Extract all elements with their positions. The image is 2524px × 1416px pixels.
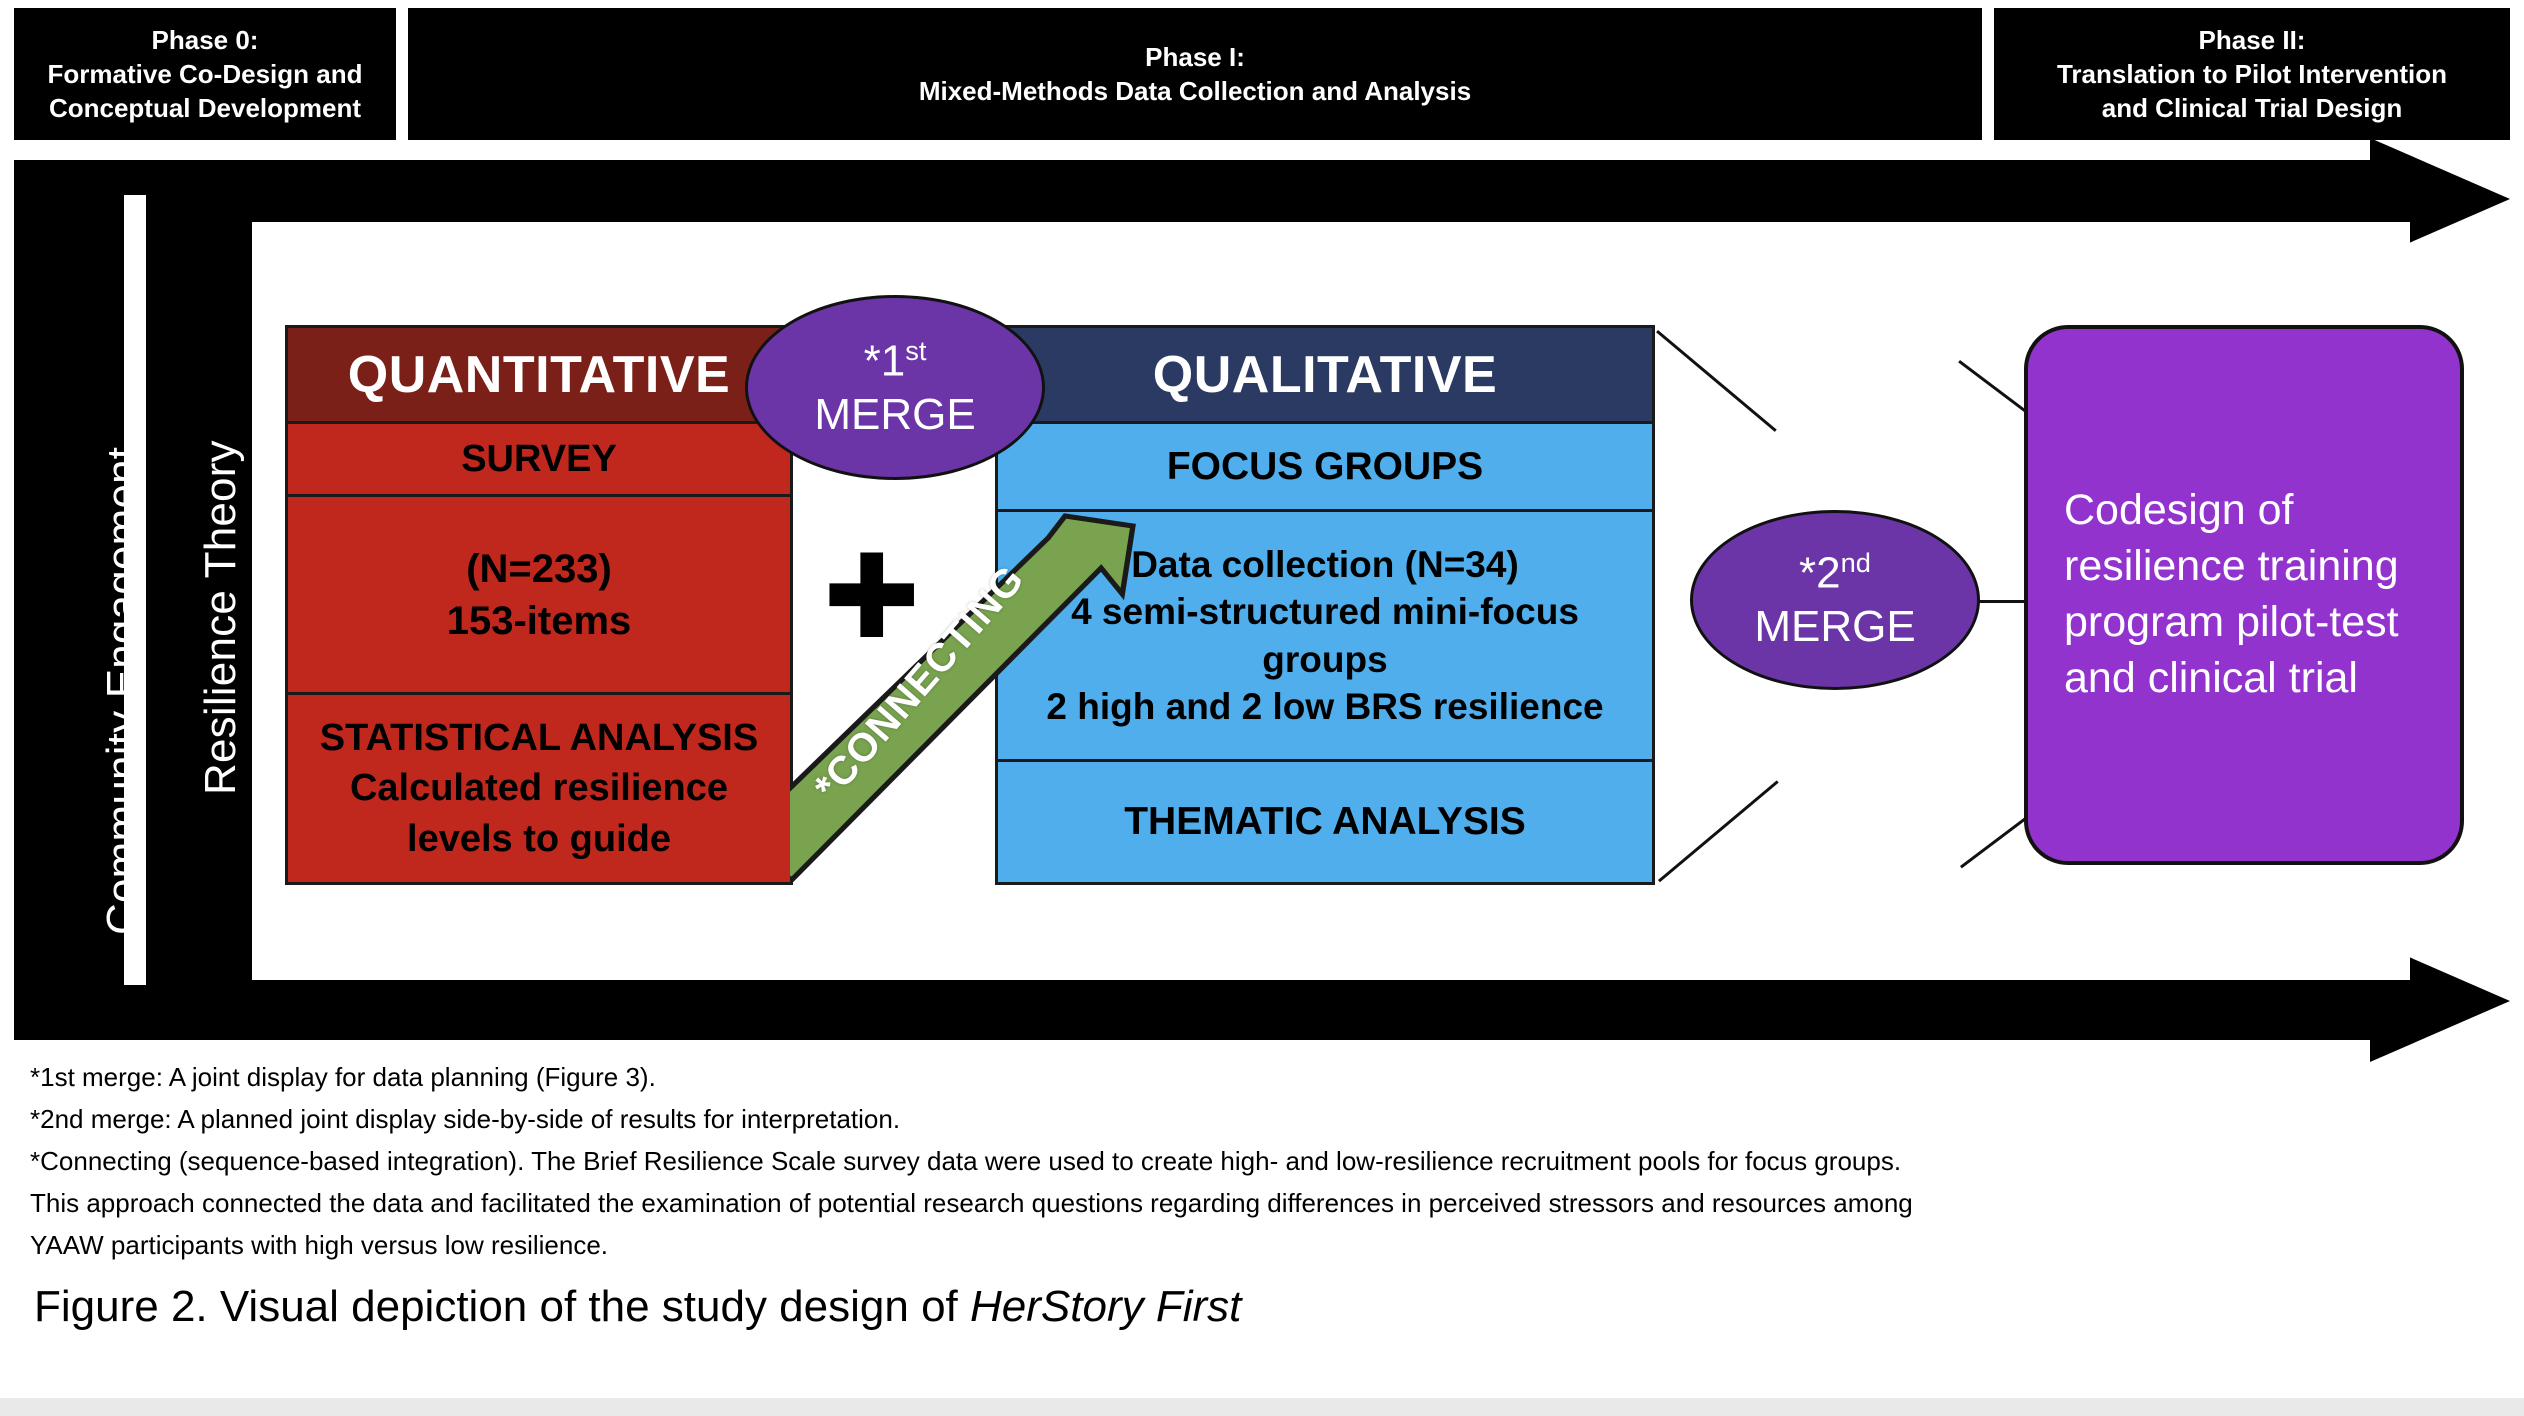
quantitative-analysis-line-2: Calculated resilience — [350, 763, 728, 813]
qualitative-data-line-3: groups — [1262, 636, 1387, 683]
merge-second-ordinal-line: *2nd — [1799, 548, 1871, 598]
quantitative-item-count: 153-items — [447, 595, 632, 647]
page-bottom-edge — [0, 1398, 2524, 1416]
quantitative-sample-size: (N=233) — [466, 543, 612, 595]
qualitative-thematic-analysis-label: THEMATIC ANALYSIS — [1124, 800, 1526, 844]
quantitative-row-survey: SURVEY — [288, 424, 790, 497]
footnote-line-4: This approach connected the data and fac… — [30, 1182, 2330, 1224]
merge-second-ordinal-suffix: nd — [1841, 547, 1871, 578]
phase-1-subtitle-line-1: Mixed-Methods Data Collection and Analys… — [919, 74, 1471, 108]
merge-second-prefix: *2 — [1799, 549, 1841, 598]
qualitative-row-focus-groups: FOCUS GROUPS — [998, 424, 1652, 512]
codesign-text: Codesign of resilience training program … — [2064, 483, 2424, 707]
qualitative-row-thematic-analysis: THEMATIC ANALYSIS — [998, 762, 1652, 882]
figure-caption-italic: HerStory First — [970, 1282, 1241, 1331]
footnote-line-5: YAAW participants with high versus low r… — [30, 1224, 2330, 1266]
qualitative-focus-groups-label: FOCUS GROUPS — [1167, 445, 1483, 489]
qualitative-data-line-4: 2 high and 2 low BRS resilience — [1046, 683, 1603, 730]
phase-box-2: Phase II: Translation to Pilot Intervent… — [1994, 8, 2510, 140]
merge-first-ordinal-suffix: st — [905, 335, 926, 366]
phase-0-subtitle-line-1: Formative Co-Design and — [48, 57, 363, 91]
phase-2-title: Phase II: — [2199, 23, 2306, 57]
quantitative-row-analysis: STATISTICAL ANALYSIS Calculated resilien… — [288, 695, 790, 882]
phase-1-title: Phase I: — [1145, 40, 1245, 74]
phase-box-0: Phase 0: Formative Co-Design and Concept… — [14, 8, 396, 140]
quantitative-row-sample: (N=233) 153-items — [288, 497, 790, 695]
figure-caption-plain: Figure 2. Visual depiction of the study … — [34, 1282, 970, 1331]
codesign-box: Codesign of resilience training program … — [2024, 325, 2464, 865]
phase-header-bar: Phase 0: Formative Co-Design and Concept… — [0, 8, 2524, 140]
quantitative-analysis-line-3: levels to guide — [407, 814, 671, 864]
phase-box-1: Phase I: Mixed-Methods Data Collection a… — [408, 8, 1982, 140]
merge-first-prefix: *1 — [864, 337, 906, 386]
figure-caption: Figure 2. Visual depiction of the study … — [34, 1282, 1241, 1332]
merge-first-label: MERGE — [814, 390, 975, 439]
qualitative-row-data-collection: Data collection (N=34) 4 semi-structured… — [998, 512, 1652, 762]
footnote-line-2: *2nd merge: A planned joint display side… — [30, 1098, 2330, 1140]
qualitative-box: QUALITATIVE FOCUS GROUPS Data collection… — [995, 325, 1655, 885]
footnote-line-3: *Connecting (sequence-based integration)… — [30, 1140, 2330, 1182]
side-label-resilience-theory: Resilience Theory — [196, 440, 246, 795]
qualitative-data-line-1: Data collection (N=34) — [1131, 541, 1519, 588]
merge-first-ordinal-line: *1st — [864, 336, 927, 386]
side-label-community-engagement: Community Engagement — [98, 447, 148, 935]
plus-icon: ✚ — [823, 540, 920, 656]
figure-canvas: Phase 0: Formative Co-Design and Concept… — [0, 0, 2524, 1416]
quantitative-survey-label: SURVEY — [461, 438, 617, 481]
qualitative-header: QUALITATIVE — [998, 328, 1652, 424]
qualitative-data-line-2: 4 semi-structured mini-focus — [1071, 588, 1579, 635]
merge-ellipse-first: *1st MERGE — [745, 295, 1045, 480]
footnotes-block: *1st merge: A joint display for data pla… — [30, 1056, 2330, 1267]
footnote-line-1: *1st merge: A joint display for data pla… — [30, 1056, 2330, 1098]
phase-2-subtitle-line-2: and Clinical Trial Design — [2102, 91, 2403, 125]
quantitative-box: QUANTITATIVE SURVEY (N=233) 153-items ST… — [285, 325, 793, 885]
phase-0-subtitle-line-2: Conceptual Development — [49, 91, 361, 125]
merge-second-label: MERGE — [1754, 602, 1915, 651]
phase-0-title: Phase 0: — [152, 23, 259, 57]
phase-2-subtitle-line-1: Translation to Pilot Intervention — [2057, 57, 2447, 91]
quantitative-analysis-title: STATISTICAL ANALYSIS — [320, 713, 758, 763]
merge-ellipse-second: *2nd MERGE — [1690, 510, 1980, 690]
quantitative-header: QUANTITATIVE — [288, 328, 790, 424]
